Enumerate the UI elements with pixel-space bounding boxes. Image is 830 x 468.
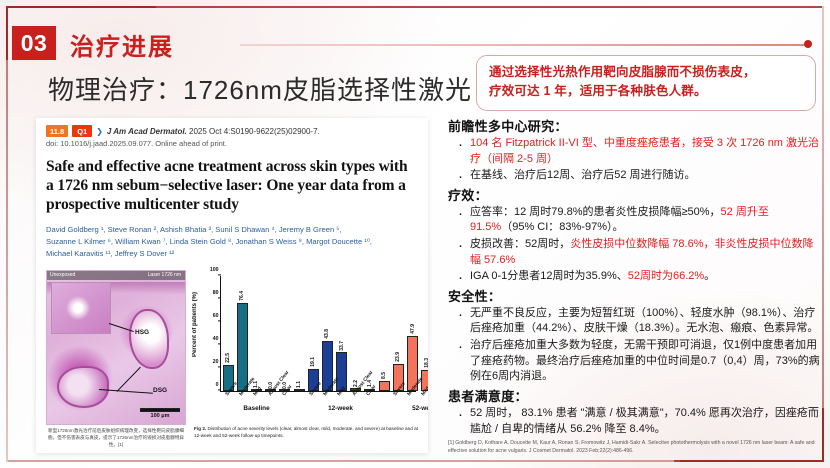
heading-safety: 安全性： — [448, 286, 820, 305]
body-text: 。 — [704, 270, 715, 282]
histology-label-laser: Laser 1726 nm — [148, 272, 181, 278]
heading-efficacy: 疗效： — [448, 185, 820, 204]
chart-bar-value-label: 23.9 — [395, 352, 401, 362]
chart-bar-value-label: 22.5 — [225, 353, 231, 363]
heading-study-design: 前瞻性多中心研究： — [448, 116, 820, 135]
chart-y-tick: 0 — [216, 382, 221, 388]
body-text: 应答率：12 周时79.8%的患者炎性皮损降幅≥50%， — [470, 206, 721, 218]
figure-caption-label: Fig 2. — [194, 426, 206, 431]
body-text: IGA 0-1分患者12周时为35.9%、 — [470, 270, 628, 282]
chart-group-label: Baseline — [221, 405, 292, 412]
figure-caption-text: Distribution of acne severity levels (cl… — [194, 426, 418, 438]
chart-bar-slot: 0.0 — [265, 276, 276, 391]
chart-bar-slot: 76.4 — [237, 276, 248, 391]
paper-doi: doi: 10.1016/j.jaad.2025.09.077. Online … — [36, 137, 428, 148]
chart-bar-value-label: 1.1 — [296, 381, 302, 388]
frame-line-left — [6, 60, 8, 462]
quartile-badge: Q1 — [72, 125, 92, 137]
section-number-badge: 03 — [12, 26, 56, 60]
header-end-dot-icon — [804, 40, 812, 48]
histology-inset — [51, 282, 111, 334]
sebaceous-gland-lower — [57, 366, 109, 408]
chart-group-label: 12-week — [305, 405, 376, 412]
journal-meta-row: 11.8 Q1 ❯ J Am Acad Dermatol. 2025 Oct 4… — [36, 118, 428, 137]
chart-bar-slot: 1.1 — [294, 276, 305, 391]
body-text: 治疗后痤疮加重大多数为轻度，无需干预即可消退，仅1例中度患者加用了痤疮药物。最终… — [470, 339, 820, 382]
chart-bar-slot: 8.5 — [379, 276, 390, 391]
list-item: 52 周时， 83.1% 患者 "满意 / 极其满意"，70.4% 愿再次治疗，… — [448, 406, 820, 437]
list-item: 皮损改善：52周时，炎性皮损中位数降幅 78.6%，非炎性皮损中位数降幅 57.… — [448, 237, 820, 268]
chart-group-label: 52-week — [389, 405, 428, 412]
chart-bar — [379, 381, 390, 391]
dsg-arrow-icon-1 — [116, 367, 141, 392]
authors-line-2: Suzanne L Kilmer ⁶, William Kwan ⁷, Lind… — [46, 236, 418, 248]
chart-bar-slot: 2.2 — [350, 276, 361, 391]
hsg-annotation: HSG — [135, 329, 149, 336]
chart-y-tick-mark — [218, 389, 221, 390]
slide-subtitle: 物理治疗：1726nm皮脂选择性激光 — [48, 70, 472, 107]
chart-bar-slot: 1.1 — [251, 276, 262, 391]
chart-bar-value-label: 8.5 — [381, 372, 387, 379]
chart-y-tick: 40 — [213, 336, 221, 342]
chart-bars-container: 22.576.41.10.00.01.119.143.833.72.21.48.… — [221, 276, 416, 391]
list-safety: 无严重不良反应，主要为短暂红斑（100%）、轻度水肿（98.1%）、治疗后痤疮加… — [448, 306, 820, 385]
chart-bar-slot: 22.5 — [223, 276, 234, 391]
reference-citation: [1] Goldberg D, Kothare A, Doucette M, K… — [448, 440, 820, 456]
authors-line-1: David Goldberg ¹, Steve Ronan ², Ashish … — [46, 224, 418, 236]
frame-line-right — [822, 6, 824, 408]
header-divider-line — [240, 44, 806, 46]
callout-line-1: 通过选择性光热作用靶向皮脂腺而不损伤表皮， — [489, 63, 803, 82]
scale-bar-label: 100 μm — [140, 413, 180, 419]
histology-caption: 新型1726nm激光治疗前后皮肤组织病理改变，选择性靶向皮脂腺细胞，但不伤害表皮… — [46, 428, 186, 449]
list-efficacy: 应答率：12 周时79.8%的患者炎性皮损降幅≥50%，52 周升至91.5%（… — [448, 205, 820, 285]
chart-bar-value-label: 47.9 — [410, 324, 416, 334]
paper-screenshot-panel: 11.8 Q1 ❯ J Am Acad Dermatol. 2025 Oct 4… — [36, 118, 428, 453]
chevron-right-icon: ❯ — [96, 127, 103, 136]
list-item: 应答率：12 周时79.8%的患者炎性皮损降幅≥50%，52 周升至91.5%（… — [448, 205, 820, 236]
chart-bar-value-label: 33.7 — [339, 341, 345, 351]
paper-title: Safe and effective acne treatment across… — [36, 148, 428, 215]
figure-row: Unexposed Laser 1726 nm HSG DSG 100 μm 新… — [36, 270, 428, 453]
chart-bar-slot: 47.9 — [407, 276, 418, 391]
chart-y-tick: 80 — [213, 290, 221, 296]
chart-plot-area: 22.576.41.10.00.01.119.143.833.72.21.48.… — [220, 276, 416, 392]
scale-bar-line — [140, 408, 180, 412]
chart-y-tick-mark — [218, 366, 221, 367]
dsg-annotation: DSG — [153, 387, 167, 394]
chart-bar-slot: 18.3 — [421, 276, 428, 391]
body-text: （95% CI：83%-97%）。 — [501, 221, 623, 233]
histology-label-unexposed: Unexposed — [50, 272, 75, 278]
highlight-callout-box: 通过选择性光热作用靶向皮脂腺而不损伤表皮， 疗效可达 1 年，适用于各种肤色人群… — [476, 55, 816, 111]
heading-satisfaction: 患者满意度： — [448, 386, 820, 405]
impact-factor-badge: 11.8 — [46, 125, 68, 137]
list-item: IGA 0-1分患者12周时为35.9%、52周时为66.2%。 — [448, 269, 820, 285]
chart-y-tick-mark — [218, 343, 221, 344]
chart-y-axis-label: Percent of patients (%) — [192, 292, 198, 357]
scale-bar: 100 μm — [140, 408, 180, 419]
section-title: 治疗进展 — [70, 27, 174, 62]
findings-content: 前瞻性多中心研究： 104 名 Fitzpatrick II-VI 型、中重度痤… — [448, 116, 820, 436]
paper-authors: David Goldberg ¹, Steve Ronan ², Ashish … — [36, 215, 428, 261]
chart-group-12-week: 1.119.143.833.72.2 — [292, 276, 363, 391]
chart-y-tick: 20 — [213, 359, 221, 365]
chart-bar-value-label: 43.8 — [324, 329, 330, 339]
callout-line-2: 疗效可达 1 年，适用于各种肤色人群。 — [489, 82, 803, 101]
authors-line-3: Michael Karavitis ¹¹, Jeffrey S Dover ¹² — [46, 248, 418, 260]
chart-bar-slot: 43.8 — [322, 276, 333, 391]
highlight-text: 104 名 Fitzpatrick II-VI 型、中重度痤疮患者， — [470, 137, 692, 149]
chart-y-tick-mark — [218, 274, 221, 275]
chart-y-tick: 100 — [210, 267, 221, 273]
list-study-design: 104 名 Fitzpatrick II-VI 型、中重度痤疮患者，接受 3 次… — [448, 136, 820, 184]
body-text: 皮损改善：52周时， — [470, 238, 570, 250]
figure-caption: Fig 2. Distribution of acne severity lev… — [194, 425, 424, 439]
list-item: 在基线、治疗后12周、治疗后52 周进行随访。 — [448, 168, 820, 184]
chart-y-tick: 60 — [213, 313, 221, 319]
frame-line-top — [150, 6, 824, 8]
list-satisfaction: 52 周时， 83.1% 患者 "满意 / 极其满意"，70.4% 愿再次治疗，… — [448, 406, 820, 437]
chart-bar-slot: 23.9 — [393, 276, 404, 391]
chart-bar-value-label: 19.1 — [310, 357, 316, 367]
chart-group-baseline: 22.576.41.10.00.0 — [221, 276, 292, 391]
body-text: 在基线、治疗后12周、治疗后52 周进行随访。 — [470, 169, 696, 181]
chart-y-tick-mark — [218, 297, 221, 298]
chart-bar-slot: 33.7 — [336, 276, 347, 391]
chart-bar-value-label: 18.3 — [424, 358, 428, 368]
chart-bar-slot: 19.1 — [308, 276, 319, 391]
body-text: 无严重不良反应，主要为短暂红斑（100%）、轻度水肿（98.1%）、治疗后痤疮加… — [470, 307, 818, 335]
highlight-text: 52周时为66.2% — [628, 270, 704, 282]
frame-line-bottom — [6, 460, 680, 462]
journal-name: J Am Acad Dermatol. 2025 Oct 4:S0190-962… — [107, 127, 320, 136]
sebaceous-gland-upper — [129, 309, 169, 369]
chart-bar — [294, 389, 305, 391]
chart-bar — [237, 303, 248, 391]
chart-bar-value-label: 76.4 — [239, 291, 245, 301]
body-text: 52 周时， 83.1% 患者 "满意 / 极其满意"，70.4% 愿再次治疗，… — [470, 407, 819, 435]
list-item: 治疗后痤疮加重大多数为轻度，无需干预即可消退，仅1例中度患者加用了痤疮药物。最终… — [448, 338, 820, 385]
severity-bar-chart: Percent of patients (%) 22.576.41.10.00.… — [194, 272, 420, 424]
histology-image: Unexposed Laser 1726 nm HSG DSG 100 μm — [46, 270, 186, 425]
chart-y-tick-mark — [218, 320, 221, 321]
chart-bar — [336, 352, 347, 391]
list-item: 无严重不良反应，主要为短暂红斑（100%）、轻度水肿（98.1%）、治疗后痤疮加… — [448, 306, 820, 337]
list-item: 104 名 Fitzpatrick II-VI 型、中重度痤疮患者，接受 3 次… — [448, 136, 820, 167]
